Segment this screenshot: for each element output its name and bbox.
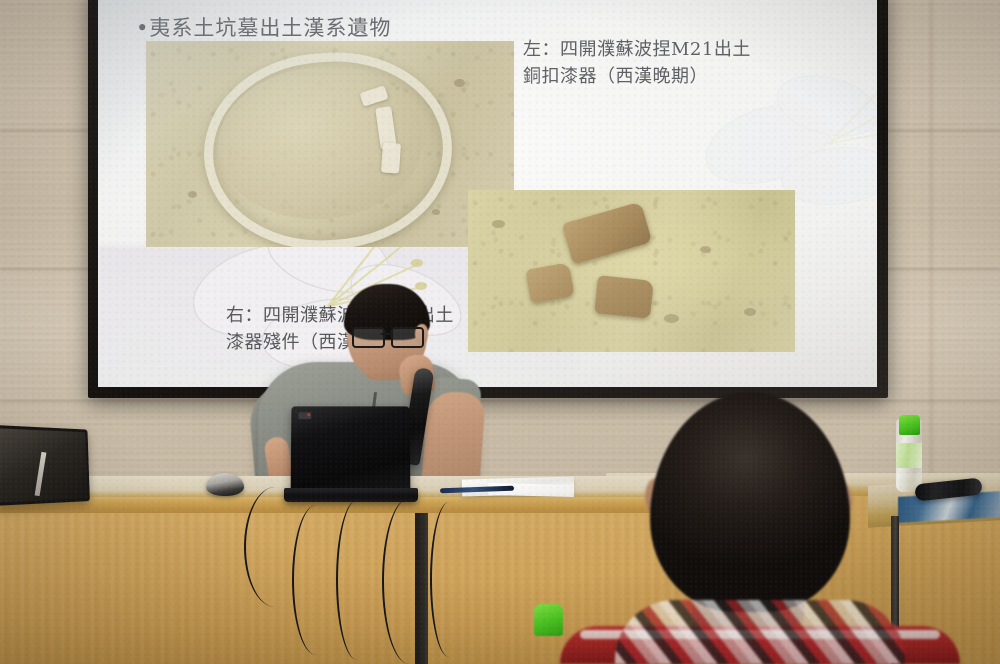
tablet-on-stand[interactable]: [0, 425, 90, 506]
laptop-base[interactable]: [284, 488, 418, 502]
projection-screen-surface: 考古調查與平面分析 •夷系土坑墓出土漢系遺物 左：四開濮蘇波捏M21出土 銅扣漆…: [98, 0, 877, 387]
presentation-photo-scene: 考古調查與平面分析 •夷系土坑墓出土漢系遺物 左：四開濮蘇波捏M21出土 銅扣漆…: [0, 0, 1000, 664]
caption-right-line1: 左：四開濮蘇波捏M21出土: [523, 36, 873, 63]
soil-speck: [664, 314, 679, 323]
soil-speck: [454, 79, 465, 87]
glasses-icon: [352, 327, 426, 344]
lacquer-fragment: [594, 275, 654, 319]
laptop-logo-icon: [298, 412, 311, 419]
caption-right-line2: 銅扣漆器（西漢晚期）: [523, 63, 873, 90]
slide-photo-left: [146, 41, 514, 247]
cable: [336, 500, 378, 660]
bottle-cap[interactable]: [899, 415, 920, 435]
glasses-lens: [391, 327, 424, 348]
soil-speck: [188, 191, 197, 198]
laptop-screen-lid[interactable]: [291, 406, 411, 494]
slide-photo-right: [468, 190, 795, 352]
caption-right: 左：四開濮蘇波捏M21出土 銅扣漆器（西漢晚期）: [523, 36, 873, 90]
artifact-shard: [381, 142, 401, 173]
soil-speck: [744, 308, 756, 316]
bottle-cap[interactable]: [534, 604, 563, 636]
cable: [430, 502, 468, 657]
glasses-bridge: [381, 333, 391, 335]
cable: [382, 498, 436, 664]
projection-screen: 考古調查與平面分析 •夷系土坑墓出土漢系遺物 左：四開濮蘇波捏M21出土 銅扣漆…: [88, 0, 888, 398]
slide-bullet: •夷系土坑墓出土漢系遺物: [136, 12, 391, 42]
bottle-label: [896, 443, 922, 468]
soil-speck: [700, 246, 711, 253]
cable: [292, 505, 340, 655]
soil-speck: [432, 209, 440, 215]
slide-title: 考古調查與平面分析: [288, 0, 877, 2]
computer-mouse[interactable]: [206, 473, 244, 496]
wall-seam: [0, 400, 1000, 402]
soil-speck: [492, 220, 505, 228]
audience-plaid-collar: [615, 600, 905, 664]
glasses-lens: [352, 327, 385, 348]
